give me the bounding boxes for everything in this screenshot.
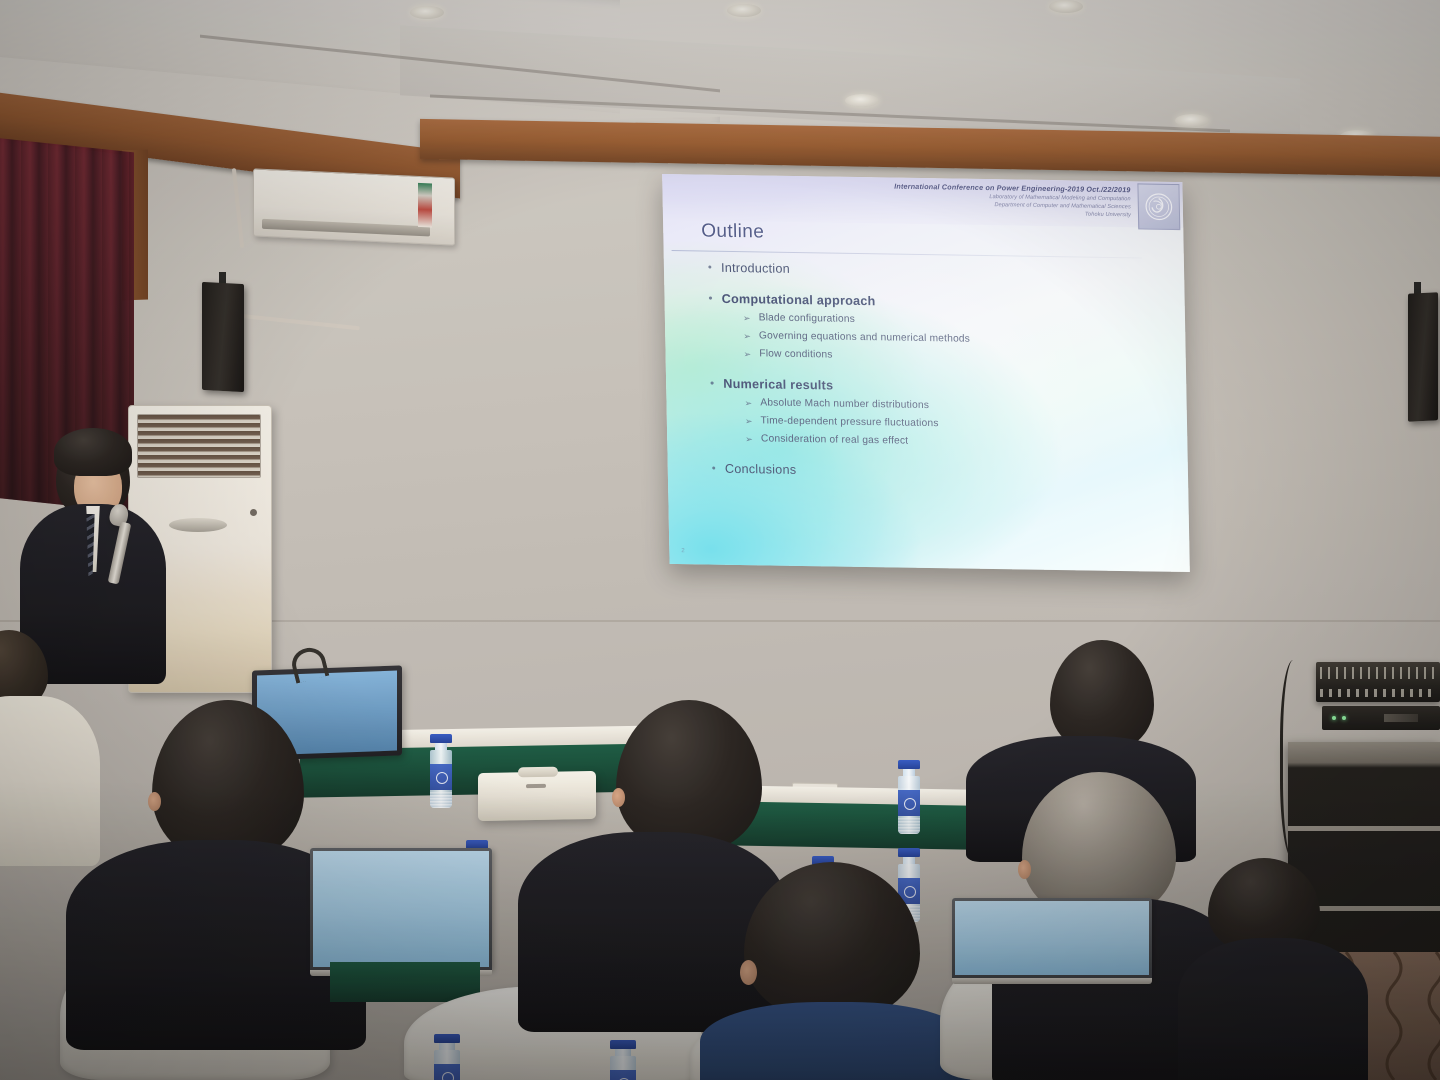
laptop-lid <box>310 848 492 970</box>
ac-vent <box>262 219 430 237</box>
bullet-dot-icon: • <box>710 377 714 391</box>
outline-subitem-label: Consideration of real gas effect <box>761 433 909 446</box>
bottle-ridges <box>430 792 452 808</box>
ac-label-sticker <box>418 183 432 228</box>
arrow-bullet-icon: ➢ <box>745 415 753 428</box>
slide-header-text: International Conference on Power Engine… <box>894 182 1131 219</box>
laptop-base <box>952 978 1152 984</box>
water-bottle[interactable] <box>610 1040 636 1080</box>
arrow-bullet-icon: ➢ <box>745 433 753 446</box>
bottle-cap <box>610 1040 636 1049</box>
laptop-screen <box>313 851 489 967</box>
arrow-bullet-icon: ➢ <box>744 397 752 410</box>
water-bottle[interactable] <box>898 760 920 834</box>
slide-page-mark: 2 <box>681 548 684 554</box>
audience-suit <box>1178 938 1368 1080</box>
ceiling-downlight <box>1049 0 1083 13</box>
ac-badge <box>169 518 227 532</box>
bottle-cap <box>898 760 920 769</box>
outline-item-label: Introduction <box>721 261 790 276</box>
bullet-dot-icon: • <box>712 462 716 476</box>
projection-screen[interactable]: International Conference on Power Engine… <box>662 174 1190 572</box>
outline-subitem: ➢ Absolute Mach number distributions <box>744 397 1166 417</box>
laptop-lid <box>952 898 1152 978</box>
dvd-display <box>1384 714 1418 722</box>
outline-subitem: ➢ Governing equations and numerical meth… <box>743 330 1165 350</box>
title-underline <box>672 250 1142 258</box>
outline-subitem: ➢ Flow conditions <box>743 348 1165 368</box>
bottle-neck <box>435 743 447 750</box>
presenter-hair <box>54 428 132 476</box>
audience-member <box>700 862 960 1080</box>
laptop-screen <box>955 901 1149 975</box>
arrow-bullet-icon: ➢ <box>743 312 751 325</box>
audience-head <box>152 700 304 862</box>
bullet-dot-icon: • <box>708 261 712 275</box>
slide-title: Outline <box>701 221 764 244</box>
status-led-icon <box>1342 716 1346 720</box>
bottle-body <box>898 776 920 834</box>
ceiling-downlight <box>845 94 879 107</box>
bottle-label <box>610 1070 636 1080</box>
outline-subitem-label: Blade configurations <box>759 312 856 325</box>
bottle-cap <box>430 734 452 743</box>
ear <box>1018 860 1031 879</box>
mixer-faders <box>1320 689 1436 697</box>
audience-laptop[interactable] <box>952 898 1152 984</box>
ceiling-downlight <box>727 4 761 17</box>
split-air-conditioner <box>253 168 455 245</box>
dvd-player[interactable] <box>1322 706 1440 730</box>
ceiling-downlight <box>1175 114 1209 127</box>
bottle-neck <box>615 1049 631 1056</box>
av-cable <box>1280 660 1313 860</box>
bottle-neck <box>439 1043 455 1050</box>
power-led-icon <box>1332 716 1336 720</box>
bottle-cap <box>898 848 920 857</box>
outline-subitem-label: Absolute Mach number distributions <box>760 397 929 411</box>
wall-speaker-icon <box>1408 292 1438 422</box>
slide-outline-list: • Introduction • Computational approach … <box>694 260 1168 488</box>
outline-subitem-label: Flow conditions <box>759 348 832 360</box>
presentation-slide: International Conference on Power Engine… <box>662 174 1190 572</box>
arrow-bullet-icon: ➢ <box>743 348 751 361</box>
university-seal-logo-icon <box>1137 183 1180 230</box>
outline-subitem-label: Time-dependent pressure fluctuations <box>761 415 939 429</box>
ear <box>148 792 161 811</box>
outline-subitem: ➢ Blade configurations <box>743 312 1165 332</box>
audience-head <box>616 700 762 852</box>
bottle-cap <box>434 1034 460 1043</box>
bottle-ridges <box>898 818 920 834</box>
bottle-body <box>610 1056 636 1080</box>
outline-item: • Introduction <box>708 261 1164 282</box>
outline-item-label: Numerical results <box>723 377 833 393</box>
bullet-dot-icon: • <box>708 292 712 306</box>
ear <box>612 788 625 807</box>
mixer-knobs <box>1320 667 1436 679</box>
outline-item-label: Computational approach <box>722 292 876 308</box>
ac-indicator-light <box>250 509 257 516</box>
bottle-neck <box>903 769 915 776</box>
audience-member <box>1188 858 1348 1080</box>
bottle-body <box>430 750 452 808</box>
bottle-label <box>434 1064 460 1080</box>
outline-item-label: Conclusions <box>725 462 797 477</box>
water-bottle[interactable] <box>434 1034 460 1080</box>
conference-room-photo: International Conference on Power Engine… <box>0 0 1440 1080</box>
bottle-label <box>898 790 920 816</box>
audio-mixer[interactable] <box>1316 662 1440 702</box>
audience-head <box>744 862 920 1020</box>
audience-laptop[interactable] <box>310 848 492 976</box>
bottle-label <box>430 764 452 790</box>
outline-subitem: ➢ Time-dependent pressure fluctuations <box>745 415 1167 435</box>
ear <box>740 960 757 985</box>
water-bottle[interactable] <box>430 734 452 808</box>
outline-subitem: ➢ Consideration of real gas effect <box>745 433 1167 453</box>
wall-speaker-icon <box>202 282 244 392</box>
ceiling-downlight <box>410 6 444 19</box>
outline-subitem-label: Governing equations and numerical method… <box>759 330 970 344</box>
audience-shirt <box>700 1002 970 1080</box>
arrow-bullet-icon: ➢ <box>743 330 751 343</box>
bottle-body <box>434 1050 460 1080</box>
table-skirt <box>330 962 480 1002</box>
